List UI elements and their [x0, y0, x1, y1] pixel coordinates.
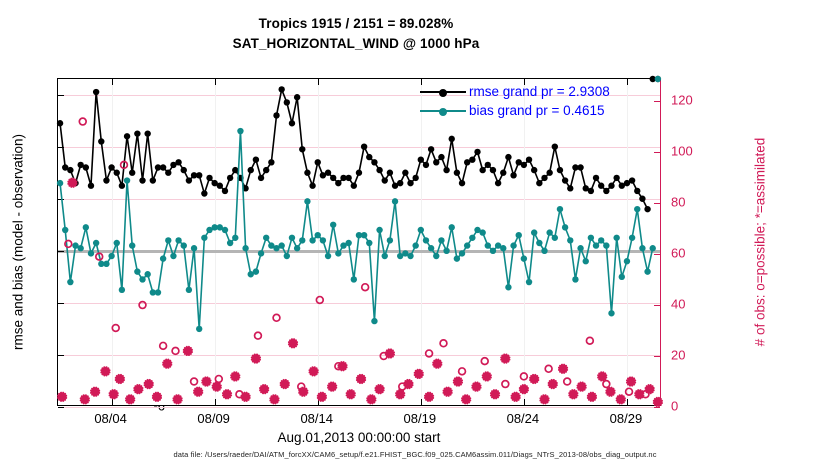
- y-tick-label-right-2: 80: [671, 195, 711, 210]
- y-axis-right-title: # of obs: o=possible; *=assimilated: [753, 77, 768, 407]
- y-tick-label-right-1: 100: [671, 144, 711, 159]
- x-tick-label-1: 08/09: [179, 411, 249, 426]
- chart-title-line-2: SAT_HORIZONTAL_WIND @ 1000 hPa: [0, 34, 712, 54]
- x-tick-label-3: 08/19: [385, 411, 455, 426]
- x-tick-label-5: 08/29: [591, 411, 661, 426]
- y-tick-left: [58, 407, 64, 408]
- data-file-note: data file: /Users/raeder/DAI/ATM_forcXX/…: [0, 450, 830, 459]
- y-tick-label-right-6: 0: [671, 399, 711, 414]
- y-tick-right: [654, 407, 660, 408]
- chart-legend[interactable]: rmse grand pr = 2.9308 bias grand pr = 0…: [420, 82, 610, 120]
- y-tick-label-right-5: 20: [671, 348, 711, 363]
- y-axis-right-title-wrap: # of obs: o=possible; *=assimilated: [760, 0, 761, 470]
- legend-line-marker-rmse: [420, 91, 466, 93]
- x-tick-label-4: 08/24: [488, 411, 558, 426]
- chart-title-line-1: Tropics 1915 / 2151 = 89.028%: [0, 14, 712, 34]
- legend-entry-rmse[interactable]: rmse grand pr = 2.9308: [420, 82, 610, 101]
- x-tick-label-0: 08/04: [76, 411, 146, 426]
- x-tick-label-2: 08/14: [282, 411, 352, 426]
- gridline-horizontal: [58, 407, 660, 408]
- y-axis-left-title-wrap: rmse and bias (model - observation): [22, 0, 23, 470]
- legend-label-bias: bias grand pr = 0.4615: [469, 103, 604, 118]
- y-tick-label-right-0: 120: [671, 93, 711, 108]
- y-tick-label-right-3: 60: [671, 246, 711, 261]
- y-tick-label-right-4: 40: [671, 297, 711, 312]
- legend-label-rmse: rmse grand pr = 2.9308: [469, 84, 610, 99]
- x-axis-title: Aug.01,2013 00:00:00 start: [57, 430, 661, 445]
- series-assimilated: [58, 179, 662, 406]
- chart-title-block: Tropics 1915 / 2151 = 89.028% SAT_HORIZO…: [0, 14, 712, 54]
- y-axis-left-title: rmse and bias (model - observation): [11, 77, 26, 407]
- legend-line-marker-bias: [420, 110, 466, 112]
- data-series-layer: [58, 79, 662, 407]
- plot-area[interactable]: [57, 78, 661, 406]
- legend-entry-bias[interactable]: bias grand pr = 0.4615: [420, 101, 610, 120]
